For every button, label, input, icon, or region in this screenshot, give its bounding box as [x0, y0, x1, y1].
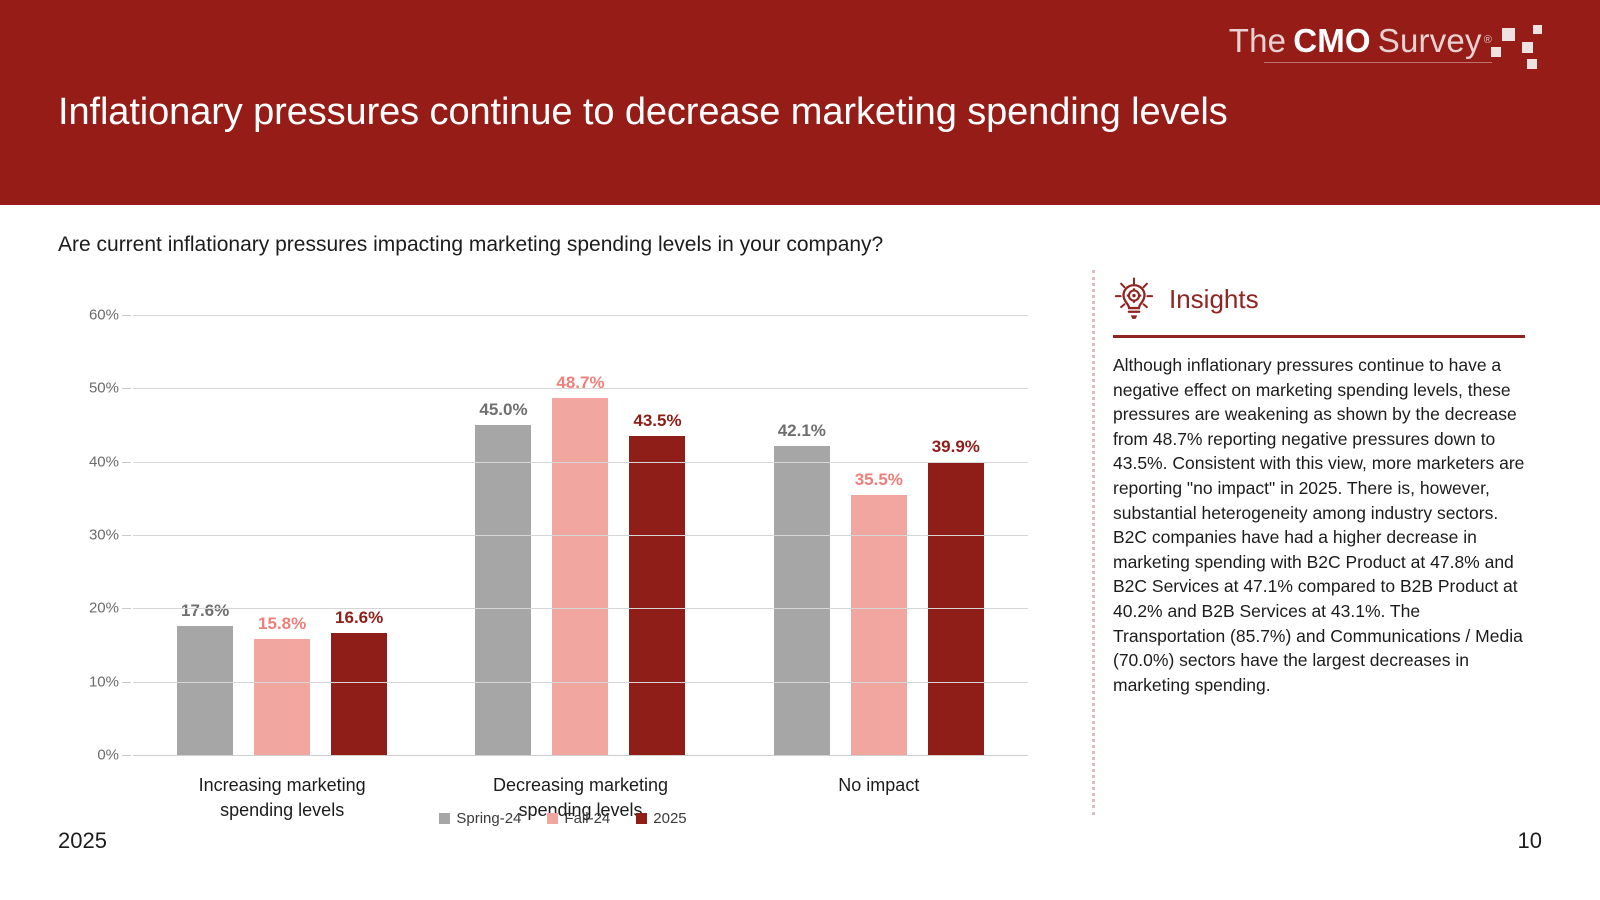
y-axis-tick-label: 40% [89, 453, 119, 470]
bar-value-label: 16.6% [335, 608, 383, 628]
bar-value-label: 45.0% [479, 400, 527, 420]
y-axis-tick-label: 0% [97, 747, 119, 764]
gridline [133, 462, 1028, 463]
chart-plot-area: 17.6%15.8%16.6%Increasing marketingspend… [133, 315, 1028, 755]
y-axis-tick-mark [122, 682, 131, 683]
bar-chart: 17.6%15.8%16.6%Increasing marketingspend… [58, 290, 1068, 830]
y-axis-tick-label: 50% [89, 380, 119, 397]
bar[interactable] [254, 639, 310, 755]
y-axis-tick-label: 60% [89, 307, 119, 324]
bar[interactable] [552, 398, 608, 755]
legend-label: Spring-24 [456, 810, 521, 827]
x-axis-category-line: No impact [730, 773, 1028, 798]
bar-value-label: 35.5% [855, 470, 903, 490]
y-axis-tick-label: 10% [89, 673, 119, 690]
page-title: Inflationary pressures continue to decre… [58, 86, 1538, 138]
bar[interactable] [774, 446, 830, 755]
legend-item[interactable]: 2025 [636, 810, 686, 827]
gridline [133, 608, 1028, 609]
panel-divider [1092, 270, 1095, 815]
cmo-survey-logo: The CMO Survey ® [1229, 22, 1492, 60]
logo-underline [1264, 62, 1492, 63]
logo-squares-decoration [1490, 20, 1548, 66]
y-axis-tick-mark [122, 608, 131, 609]
x-axis-category-line: Decreasing marketing [431, 773, 729, 798]
gridline [133, 755, 1028, 756]
gridline [133, 315, 1028, 316]
footer-year: 2025 [58, 828, 107, 854]
gridline [133, 535, 1028, 536]
logo-cmo: CMO [1286, 22, 1378, 60]
insights-rule [1113, 335, 1525, 338]
bar[interactable] [331, 633, 387, 755]
bar[interactable] [475, 425, 531, 755]
survey-question: Are current inflationary pressures impac… [58, 230, 1098, 260]
legend-swatch [439, 813, 450, 824]
legend-swatch [547, 813, 558, 824]
header-banner: The CMO Survey ® Inflationary pressures … [0, 0, 1600, 205]
y-axis-tick-mark [122, 535, 131, 536]
bar-value-label: 48.7% [556, 373, 604, 393]
insights-title: Insights [1169, 284, 1259, 315]
legend-label: Fall-24 [564, 810, 610, 827]
bar-value-label: 15.8% [258, 614, 306, 634]
legend-label: 2025 [653, 810, 686, 827]
y-axis-tick-mark [122, 315, 131, 316]
y-axis-tick-label: 20% [89, 600, 119, 617]
logo-survey: Survey [1378, 22, 1482, 60]
slide: The CMO Survey ® Inflationary pressures … [0, 0, 1600, 900]
bar[interactable] [629, 436, 685, 755]
legend-item[interactable]: Spring-24 [439, 810, 521, 827]
y-axis-tick-label: 30% [89, 527, 119, 544]
gridline [133, 388, 1028, 389]
insights-panel: Insights Although inflationary pressures… [1113, 270, 1525, 697]
logo-the: The [1229, 22, 1286, 60]
legend-swatch [636, 813, 647, 824]
bar-value-label: 42.1% [778, 421, 826, 441]
bar[interactable] [851, 495, 907, 755]
bar[interactable] [177, 626, 233, 755]
legend-item[interactable]: Fall-24 [547, 810, 610, 827]
y-axis-tick-mark [122, 755, 131, 756]
insights-header: Insights [1113, 270, 1525, 328]
bar-value-label: 39.9% [932, 437, 980, 457]
y-axis-tick-mark [122, 388, 131, 389]
insights-body: Although inflationary pressures continue… [1113, 353, 1525, 697]
y-axis-tick-mark [122, 462, 131, 463]
bar-value-label: 43.5% [633, 411, 681, 431]
chart-legend: Spring-24Fall-242025 [58, 810, 1068, 827]
footer-page-number: 10 [1518, 828, 1542, 854]
lightbulb-gear-icon [1113, 277, 1155, 321]
x-axis-category-label: No impact [730, 773, 1028, 798]
x-axis-category-line: Increasing marketing [133, 773, 431, 798]
bar-value-label: 17.6% [181, 601, 229, 621]
gridline [133, 682, 1028, 683]
